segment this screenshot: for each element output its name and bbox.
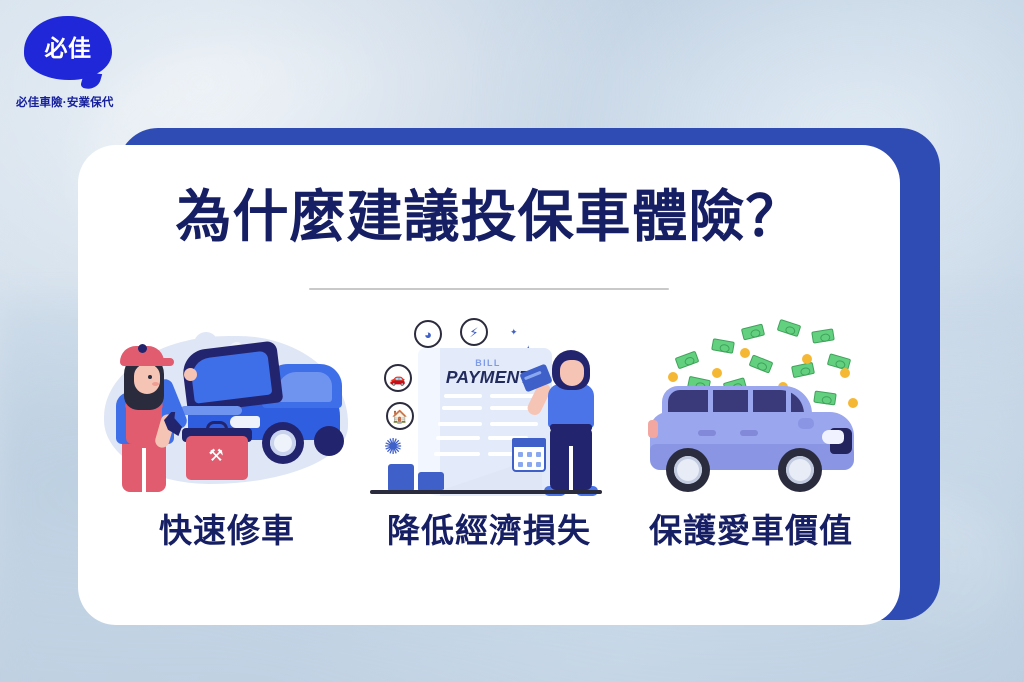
banknote bbox=[711, 338, 735, 354]
mechanic-cap-brim-shape bbox=[154, 358, 174, 366]
suv-front-wheel-shape bbox=[778, 448, 822, 492]
woman-shirt-shape bbox=[548, 384, 594, 428]
calendar-day-dot bbox=[527, 462, 532, 467]
blue-car-headlight-shape bbox=[230, 416, 260, 428]
banknote bbox=[749, 354, 774, 373]
mechanic-leg-gap-shape bbox=[142, 448, 146, 492]
benefit-item-reduce-loss: ◕ ⚡ 🚗 🏠 ✦ ✦ BILL PAYMENT bbox=[358, 320, 620, 552]
benefit-item-protect-value: 保護愛車價值 bbox=[620, 320, 882, 552]
gold-coin bbox=[740, 348, 750, 358]
toolbox-tools-icon: ⚒ bbox=[206, 446, 226, 466]
mechanic-face-shape bbox=[134, 364, 160, 394]
sparkle-small-icon: ✦ bbox=[510, 328, 518, 337]
mechanic-raised-hand-shape bbox=[184, 368, 197, 381]
invoice-text-line bbox=[434, 452, 480, 456]
coin-stack bbox=[418, 472, 444, 492]
bill-payment-illustration: ◕ ⚡ 🚗 🏠 ✦ ✦ BILL PAYMENT bbox=[364, 320, 614, 500]
blue-car-rear-wheel-shape bbox=[314, 426, 344, 456]
banknote bbox=[741, 324, 765, 341]
mechanic-cap-button-shape bbox=[138, 344, 147, 353]
banknote bbox=[811, 328, 835, 343]
benefit-item-fast-repair: ⚒ 快速修車 bbox=[96, 320, 358, 552]
brand-tagline: 必佳車險·安業保代 bbox=[16, 94, 174, 110]
suv-with-money-illustration bbox=[626, 320, 876, 500]
suv-mirror-shape bbox=[798, 418, 814, 429]
benefit-caption: 保護愛車價值 bbox=[649, 504, 853, 552]
suv-headlight-shape bbox=[822, 430, 844, 444]
gold-coin bbox=[848, 398, 858, 408]
gold-coin bbox=[712, 368, 722, 378]
gold-coin bbox=[802, 354, 812, 364]
woman-pants-gap-shape bbox=[569, 446, 573, 490]
banknote bbox=[777, 319, 802, 337]
woman-face-shape bbox=[560, 360, 584, 386]
speech-bubble-icon: 必佳 bbox=[24, 16, 112, 80]
blue-car-window-shape bbox=[278, 372, 332, 402]
lightning-bolt-icon: ⚡ bbox=[460, 318, 488, 346]
page-title: 為什麼建議投保車體險？ bbox=[78, 187, 900, 247]
suv-door-handle-shape bbox=[698, 430, 716, 436]
car-icon: 🚗 bbox=[384, 364, 412, 392]
ground-line-shape bbox=[370, 490, 602, 494]
suv-rear-wheel-shape bbox=[666, 448, 710, 492]
mechanic-eye-shape bbox=[148, 375, 152, 379]
gold-coin bbox=[840, 368, 850, 378]
invoice-text-line bbox=[438, 422, 482, 426]
benefit-caption: 快速修車 bbox=[159, 504, 295, 552]
coin-stacks-group bbox=[388, 458, 452, 492]
banknote bbox=[675, 351, 700, 370]
invoice-text-line bbox=[442, 406, 482, 410]
invoice-text-line bbox=[444, 394, 482, 398]
woman-belt-shape bbox=[550, 424, 592, 431]
calendar-day-dot bbox=[518, 462, 523, 467]
benefit-caption: 降低經濟損失 bbox=[387, 504, 591, 552]
coin-stack bbox=[388, 464, 414, 492]
calendar-day-dot bbox=[536, 462, 541, 467]
invoice-text-line bbox=[490, 422, 538, 426]
poster-canvas: 必佳 必佳車險·安業保代 為什麼建議投保車體險？ bbox=[0, 0, 1024, 682]
gold-coin bbox=[668, 372, 678, 382]
invoice-text-line bbox=[436, 436, 480, 440]
calendar-day-dot bbox=[536, 452, 541, 457]
calendar-header-shape bbox=[512, 438, 546, 447]
title-divider bbox=[309, 288, 669, 290]
suv-taillight-shape bbox=[648, 420, 658, 438]
brand-logo-block: 必佳 必佳車險·安業保代 bbox=[14, 16, 174, 110]
content-card: 為什麼建議投保車體險？ bbox=[78, 145, 900, 625]
mechanic-cheek-shape bbox=[152, 382, 159, 386]
calendar-day-dot bbox=[527, 452, 532, 457]
wifi-icon: ◕ bbox=[414, 320, 442, 348]
house-icon: 🏠 bbox=[386, 402, 414, 430]
mechanic-repairing-car-illustration: ⚒ bbox=[102, 320, 352, 500]
calendar-day-dot bbox=[518, 452, 523, 457]
banknote bbox=[813, 391, 836, 406]
blue-car-hood-inner-shape bbox=[190, 351, 273, 404]
banknote bbox=[791, 362, 815, 378]
brand-logo-text: 必佳 bbox=[45, 37, 92, 60]
blue-car-engine-shape bbox=[180, 406, 242, 415]
suv-door-handle-shape bbox=[740, 430, 758, 436]
benefits-row: ⚒ 快速修車 ◕ ⚡ 🚗 🏠 ✦ ✦ BILL PAYMENT bbox=[96, 320, 882, 590]
blue-car-front-wheel-shape bbox=[262, 422, 304, 464]
